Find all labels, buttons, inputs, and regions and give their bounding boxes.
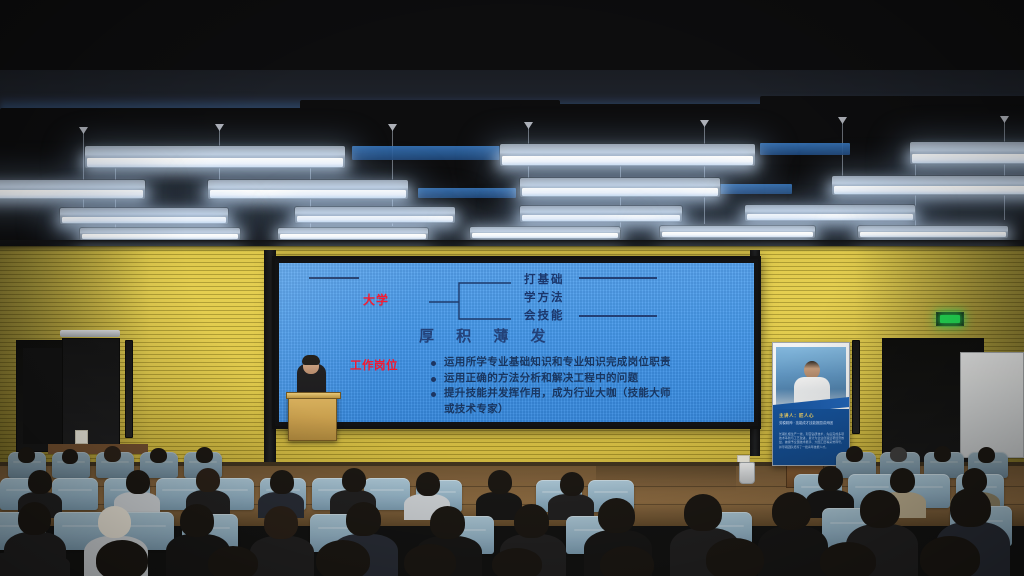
poster-photo	[776, 347, 846, 405]
equipment-rack	[62, 338, 120, 452]
audience-shoulders	[758, 526, 828, 576]
poster-speaker-name: 主讲人：匠人心	[779, 413, 814, 419]
ceiling-light	[80, 228, 240, 240]
wall-plate-left	[75, 430, 88, 444]
slide-label-university: 大学	[363, 291, 389, 308]
poster-bio: 长期扎根生产一线，刻苦钻研技术，先后完成多项技术革新与工艺改进，累计为企业创造显…	[779, 432, 844, 449]
audience-head	[196, 447, 213, 463]
audience-head	[196, 468, 220, 492]
branch-item: 学方法	[524, 289, 565, 307]
presenter-hair	[302, 355, 320, 365]
ceiling-light	[470, 227, 620, 239]
audience-head	[62, 449, 78, 464]
audience-head	[430, 506, 465, 539]
audience-head	[920, 536, 980, 576]
audience-head	[316, 540, 370, 576]
audience-head	[890, 447, 907, 462]
audience-head	[416, 472, 440, 496]
ceiling-light	[858, 226, 1008, 238]
lectern	[288, 395, 337, 441]
audience-head	[818, 466, 843, 491]
audience-head	[342, 468, 366, 492]
slide-label-job: 工作岗位	[350, 357, 398, 373]
ceiling-light	[500, 144, 755, 166]
ceiling-light	[910, 142, 1024, 164]
rack-top-panel	[60, 330, 120, 337]
ceiling-light	[520, 178, 720, 197]
audience-head	[404, 544, 456, 576]
audience-head	[950, 488, 991, 527]
audience-head	[846, 446, 863, 462]
audience-head	[890, 468, 915, 493]
wall-speaker-left	[125, 340, 133, 438]
audience-head	[18, 502, 51, 535]
audience-head	[820, 542, 876, 576]
led-screen: 大学 工作岗位 打基础 学方法 会技能 厚 积 薄 发 运用所学专业基础知识和专…	[272, 256, 761, 429]
audience-head	[684, 494, 722, 531]
audience-head	[488, 470, 512, 494]
exit-sign	[936, 312, 964, 326]
exit-icon	[940, 315, 960, 323]
ceiling-blue-strip	[352, 146, 500, 160]
audience-head-beanie	[98, 506, 131, 538]
audience-head	[346, 502, 381, 536]
audience-head	[934, 446, 951, 462]
ceiling-blue-strip	[712, 184, 792, 194]
audience-head	[492, 548, 542, 576]
audience-head	[514, 504, 549, 538]
slide-motto: 厚 积 薄 发	[419, 325, 555, 346]
branch-item: 会技能	[524, 307, 565, 325]
audience-head	[560, 472, 584, 496]
audience-head	[598, 498, 635, 533]
audience-head	[104, 446, 121, 462]
audience-head	[264, 506, 298, 539]
hanger-wire	[704, 126, 705, 224]
audience-head	[978, 447, 995, 463]
whiteboard-right	[960, 352, 1024, 458]
audience-head	[96, 540, 148, 576]
slide-branch-list: 打基础 学方法 会技能	[524, 271, 565, 325]
presentation-slide: 大学 工作岗位 打基础 学方法 会技能 厚 积 薄 发 运用所学专业基础知识和专…	[279, 263, 754, 422]
slide-bullet-continuation: 或技术专家）	[431, 402, 671, 418]
hanger-wire	[915, 160, 916, 230]
slide-rule-bottom	[579, 315, 657, 317]
slide-bullet: 运用所学专业基础知识和专业知识完成岗位职责	[431, 355, 671, 371]
ceiling-slab	[0, 0, 1024, 70]
audience-head	[208, 546, 258, 576]
audience-head	[706, 538, 764, 576]
ceiling-ridge	[0, 108, 340, 248]
ceiling-light	[0, 180, 145, 199]
speaker-poster: 主讲人：匠人心 劳模精神 · 技能成才技能报国讲师团 长期扎根生产一线，刻苦钻研…	[772, 342, 850, 466]
hanger-wire	[1004, 122, 1005, 220]
ceiling-light	[745, 205, 915, 221]
ceiling-light	[85, 146, 345, 168]
audience-head	[150, 448, 167, 463]
wall-speaker-right	[852, 340, 860, 434]
ceiling-blue-strip	[418, 188, 516, 198]
slide-top-rule	[309, 277, 359, 279]
slide-bullet-list: 运用所学专业基础知识和专业知识完成岗位职责 运用正确的方法分析和解决工程中的问题…	[431, 355, 671, 417]
brace-icon	[429, 279, 515, 323]
audience-head	[772, 492, 811, 530]
audience-head	[18, 447, 35, 463]
audience-head	[126, 470, 150, 494]
audience-shoulders	[0, 552, 70, 576]
audience-head	[860, 490, 900, 528]
ceiling-light	[295, 207, 455, 223]
lecture-hall-photo: 大学 工作岗位 打基础 学方法 会技能 厚 积 薄 发 运用所学专业基础知识和专…	[0, 0, 1024, 576]
audience-head	[270, 470, 294, 494]
slide-rule-top	[579, 277, 657, 279]
audience-head	[180, 504, 214, 537]
trash-bin	[739, 462, 755, 484]
lectern-top	[286, 392, 341, 399]
ceiling-light	[520, 206, 682, 222]
ceiling-light	[278, 228, 428, 240]
slide-bullet: 运用正确的方法分析和解决工程中的问题	[431, 371, 671, 387]
slide-bullet: 提升技能并发挥作用，成为行业大咖（技能大师	[431, 386, 671, 402]
audience-shoulders	[250, 536, 314, 576]
branch-item: 打基础	[524, 271, 565, 289]
poster-subtitle: 劳模精神 · 技能成才技能报国讲师团	[779, 421, 844, 426]
ceiling-light	[60, 208, 228, 224]
ceiling-blue-strip	[760, 143, 850, 155]
audience-head	[28, 470, 52, 494]
ceiling-light	[660, 226, 815, 238]
audience-head	[600, 546, 654, 576]
ceiling-light	[832, 176, 1024, 195]
screen-surface: 大学 工作岗位 打基础 学方法 会技能 厚 积 薄 发 运用所学专业基础知识和专…	[279, 263, 754, 422]
ceiling-light	[208, 180, 408, 199]
